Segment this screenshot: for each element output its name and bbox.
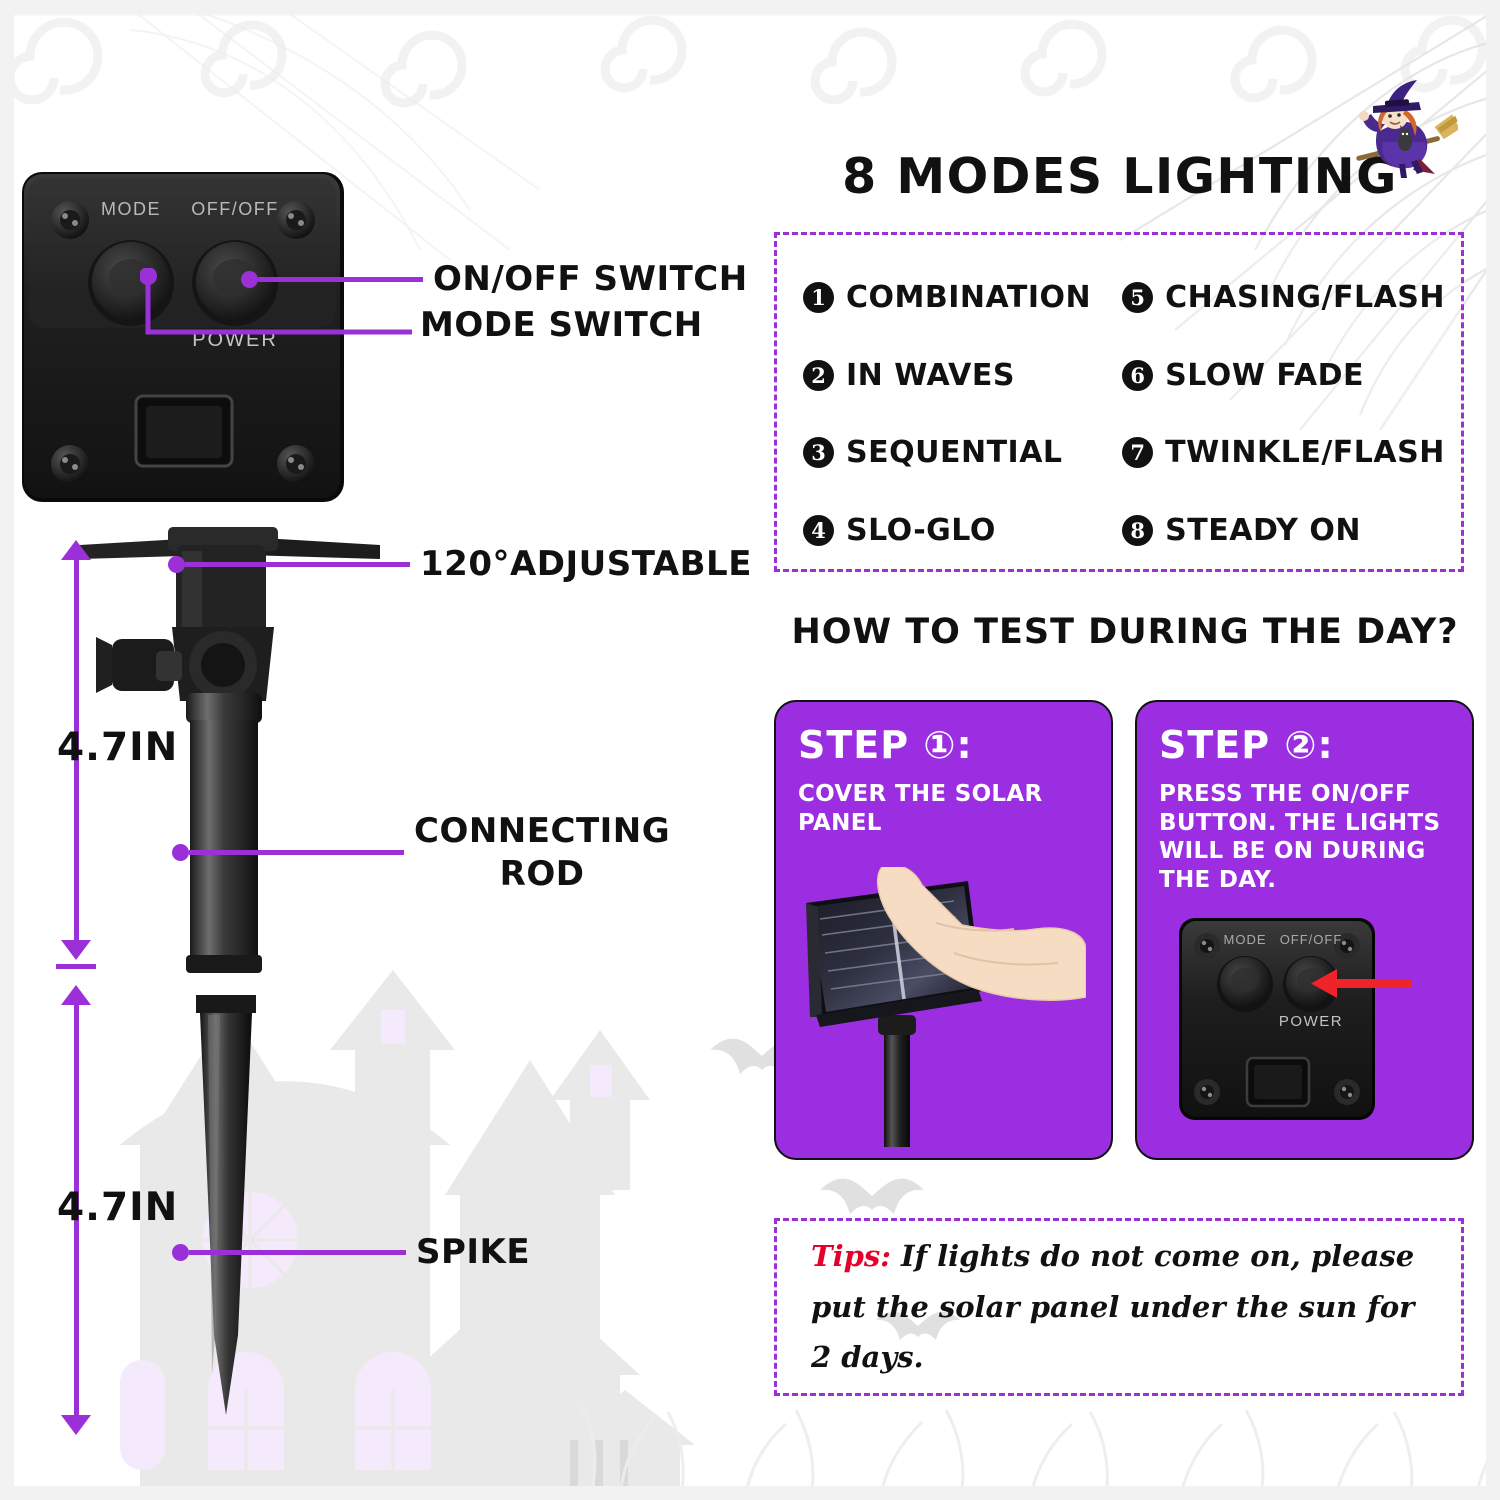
mode-label: SLO-GLO	[846, 513, 996, 548]
mode-item-7: 7 TWINKLE/FLASH	[1122, 414, 1445, 492]
mode-item-3: 3 SEQUENTIAL	[803, 414, 1116, 492]
test-section-title: HOW TO TEST DURING THE DAY?	[760, 612, 1490, 652]
tips-text: Tips: If lights do not come on, please p…	[777, 1231, 1461, 1383]
step-card-2: STEP ②: PRESS THE ON/OFF BUTTON. THE LIG…	[1135, 700, 1474, 1160]
mode-item-8: 8 STEADY ON	[1122, 492, 1445, 570]
mode-label: IN WAVES	[846, 358, 1015, 393]
onoff-label: OFF/OFF	[191, 199, 278, 219]
dimension-spike-length: 4.7IN	[62, 985, 122, 1435]
modes-title: 8 MODES LIGHTING	[820, 152, 1420, 201]
callout-label-adjustable: 120°ADJUSTABLE	[420, 547, 752, 582]
steps-container: STEP ①: COVER THE SOLAR PANEL	[774, 700, 1474, 1160]
tips-label: Tips:	[811, 1239, 891, 1273]
infographic-page: MODE OFF/OFF POWER	[0, 0, 1500, 1500]
modes-list-box: 1 COMBINATION 5 CHASING/FLASH 2 IN WAVES…	[774, 232, 1464, 572]
mode-item-4: 4 SLO-GLO	[803, 492, 1116, 570]
callout-label-on-off-switch: ON/OFF SWITCH	[433, 262, 748, 297]
mode-item-2: 2 IN WAVES	[803, 337, 1116, 415]
tips-body: If lights do not come on, please put the…	[811, 1239, 1414, 1375]
mode-label-step2: MODE	[1224, 932, 1267, 947]
mode-number: 4	[803, 515, 834, 546]
onoff-label-step2: OFF/OFF	[1280, 932, 1343, 947]
mode-number: 7	[1122, 437, 1153, 468]
witch-on-broom-icon	[1343, 80, 1458, 190]
info-column: 8 MODES LIGHTING	[760, 0, 1500, 1500]
mode-number: 5	[1122, 282, 1153, 313]
mode-label: SEQUENTIAL	[846, 435, 1063, 470]
callout-label-mode-switch: MODE SWITCH	[420, 308, 703, 343]
dimension-tick-mid	[56, 964, 96, 969]
callout-leader-line	[189, 1250, 406, 1255]
dimension-arrow-bottom	[61, 940, 91, 960]
dimension-rod-length: 4.7IN	[62, 540, 122, 960]
mode-item-1: 1 COMBINATION	[803, 259, 1116, 337]
modes-grid: 1 COMBINATION 5 CHASING/FLASH 2 IN WAVES…	[777, 235, 1461, 569]
mode-label: SLOW FADE	[1165, 358, 1364, 393]
tips-box: Tips: If lights do not come on, please p…	[774, 1218, 1464, 1396]
dimension-label-rod: 4.7IN	[57, 725, 178, 770]
step-2-heading: STEP ②:	[1159, 726, 1334, 764]
mode-label: COMBINATION	[846, 280, 1091, 315]
callout-leader-line	[185, 562, 410, 567]
mode-item-5: 5 CHASING/FLASH	[1122, 259, 1445, 337]
callout-leader-mode-switch	[140, 268, 420, 348]
dimension-label-spike: 4.7IN	[57, 1185, 178, 1230]
product-diagram: MODE OFF/OFF POWER	[0, 0, 760, 1500]
callout-adjustable: 120°ADJUSTABLE	[168, 547, 752, 582]
callout-connecting-rod: CONNECTING ROD	[172, 810, 670, 895]
mode-label: CHASING/FLASH	[1165, 280, 1445, 315]
mode-number: 1	[803, 282, 834, 313]
callout-spike: SPIKE	[172, 1235, 530, 1270]
step-1-heading: STEP ①:	[798, 726, 973, 764]
callout-label-connecting-rod: CONNECTING ROD	[414, 810, 670, 895]
callout-leader-line	[189, 850, 404, 855]
step-card-1: STEP ①: COVER THE SOLAR PANEL	[774, 700, 1113, 1160]
callout-dot	[168, 556, 185, 573]
mode-label: MODE	[101, 199, 161, 219]
callout-dot	[172, 1244, 189, 1261]
mode-number: 8	[1122, 515, 1153, 546]
step-1-text: COVER THE SOLAR PANEL	[798, 780, 1099, 837]
callout-label-spike: SPIKE	[416, 1235, 530, 1270]
mode-label: STEADY ON	[1165, 513, 1361, 548]
cover-solar-panel-illustration	[786, 867, 1086, 1147]
callout-dot	[172, 844, 189, 861]
step-2-text: PRESS THE ON/OFF BUTTON. THE LIGHTS WILL…	[1159, 780, 1460, 894]
mode-number: 6	[1122, 360, 1153, 391]
press-onoff-button-illustration: MODE OFF/OFF POWER	[1171, 912, 1411, 1127]
mode-number: 2	[803, 360, 834, 391]
mode-number: 3	[803, 437, 834, 468]
dimension-arrow-bottom	[61, 1415, 91, 1435]
mode-item-6: 6 SLOW FADE	[1122, 337, 1445, 415]
power-label-step2: POWER	[1279, 1013, 1343, 1030]
mode-label: TWINKLE/FLASH	[1165, 435, 1445, 470]
